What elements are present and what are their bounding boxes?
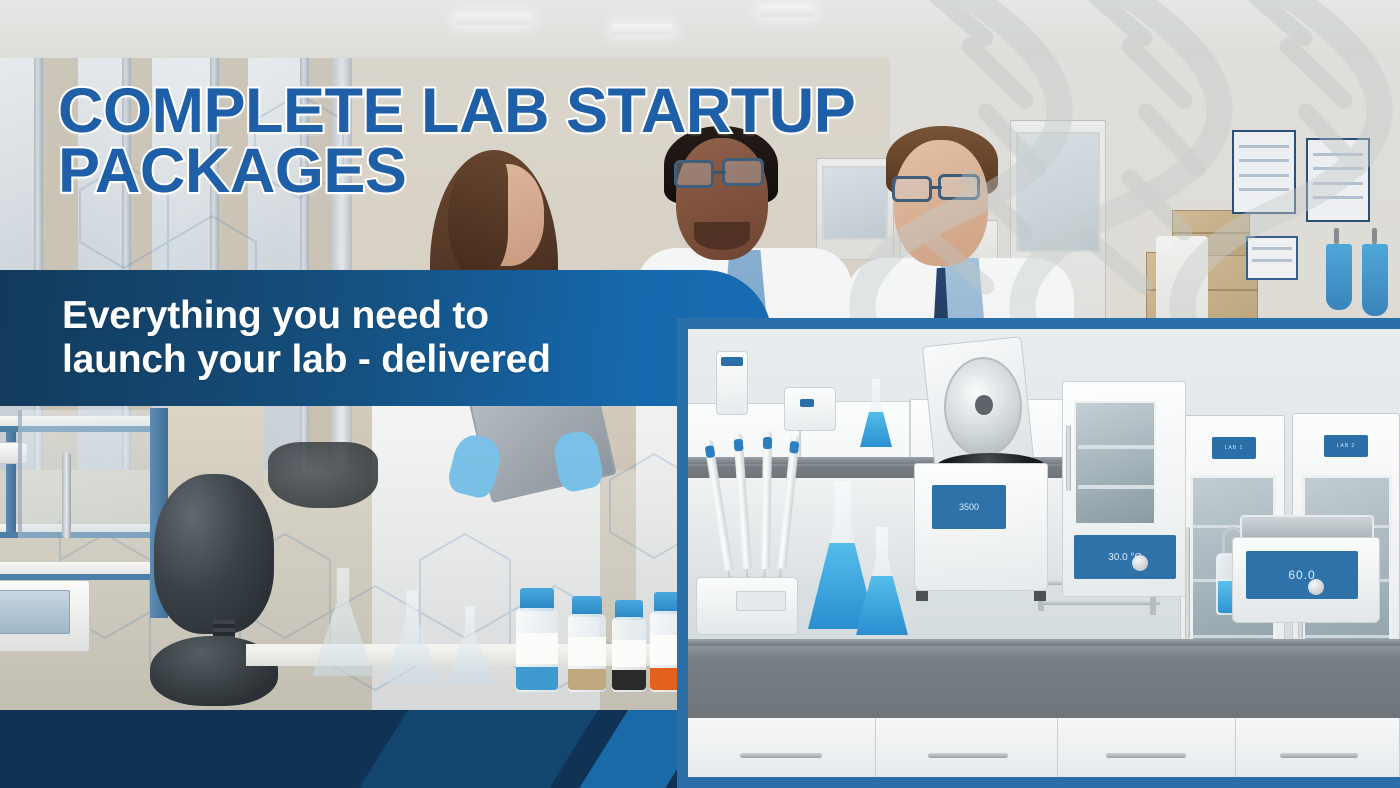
reagent-bottle xyxy=(514,588,560,692)
centrifuge-value: 3500 xyxy=(959,502,979,512)
main-counter xyxy=(688,646,1400,718)
headline-line-1: COMPLETE LAB STARTUP xyxy=(58,82,958,142)
reagent-bottle xyxy=(610,600,648,692)
balance-display xyxy=(0,590,70,634)
page-title: COMPLETE LAB STARTUP PACKAGES xyxy=(58,82,958,202)
fridge-control-panel-left: LAB 1 xyxy=(1212,437,1256,459)
fridge-shelf xyxy=(1304,635,1390,638)
incubator-knob[interactable] xyxy=(1132,555,1148,571)
subtitle-line-2: launch your lab - delivered xyxy=(62,338,551,382)
small-bench-unit xyxy=(784,387,836,431)
water-bath-knob[interactable] xyxy=(1308,579,1324,595)
background-chair xyxy=(268,442,378,508)
rotor-hub xyxy=(975,395,993,415)
subtitle-line-1: Everything you need to xyxy=(62,294,551,338)
incubator-handle xyxy=(1066,425,1071,491)
fridge-panel-label: LAB 1 xyxy=(1225,445,1244,451)
glass-enclosure xyxy=(18,410,168,538)
centrifuge-foot xyxy=(916,591,928,601)
inset-bottom-blue-bar xyxy=(688,777,1400,788)
marketing-banner: COMPLETE LAB STARTUP PACKAGES Everything… xyxy=(0,0,1400,788)
wall-shelf xyxy=(1040,601,1160,605)
erlenmeyer-flask xyxy=(312,568,374,676)
drawer-handle[interactable] xyxy=(1106,753,1186,758)
stand-panel xyxy=(736,591,786,611)
main-counter-edge xyxy=(688,639,1400,646)
centrifuge-foot xyxy=(1034,591,1046,601)
subtitle-text: Everything you need to launch your lab -… xyxy=(0,294,551,381)
enclosure-post xyxy=(62,452,71,538)
erlenmeyer-flask xyxy=(384,590,440,682)
centrifuge-display: 3500 xyxy=(932,485,1006,529)
reagent-bottle xyxy=(566,596,608,692)
drawer-handle[interactable] xyxy=(1280,753,1358,758)
incubator-shelf xyxy=(1078,485,1154,489)
drawer-handle[interactable] xyxy=(740,753,822,758)
incubator-shelf xyxy=(1078,445,1154,449)
bottom-accent-bar xyxy=(0,710,677,788)
incubator-glass-door xyxy=(1074,401,1156,525)
purifier-display xyxy=(721,357,743,366)
small-unit-indicator xyxy=(800,399,814,407)
incubator-display: 30.0 °C xyxy=(1074,535,1176,579)
inset-photo-inner: LAB 1 LAB 2 xyxy=(688,329,1400,788)
lab-stool-back xyxy=(154,474,274,634)
fridge-panel-label: LAB 2 xyxy=(1337,443,1356,449)
inset-equipment-photo: LAB 1 LAB 2 xyxy=(677,318,1400,788)
fridge-control-panel-right: LAB 2 xyxy=(1324,435,1368,457)
water-bath-display: 60.0 xyxy=(1246,551,1358,599)
subtitle-banner: Everything you need to launch your lab -… xyxy=(0,270,772,406)
drawer-handle[interactable] xyxy=(928,753,1008,758)
fridge-shelf xyxy=(1192,635,1274,638)
headline-line-2: PACKAGES xyxy=(58,142,958,202)
bottom-left-lab-photo xyxy=(0,398,690,728)
